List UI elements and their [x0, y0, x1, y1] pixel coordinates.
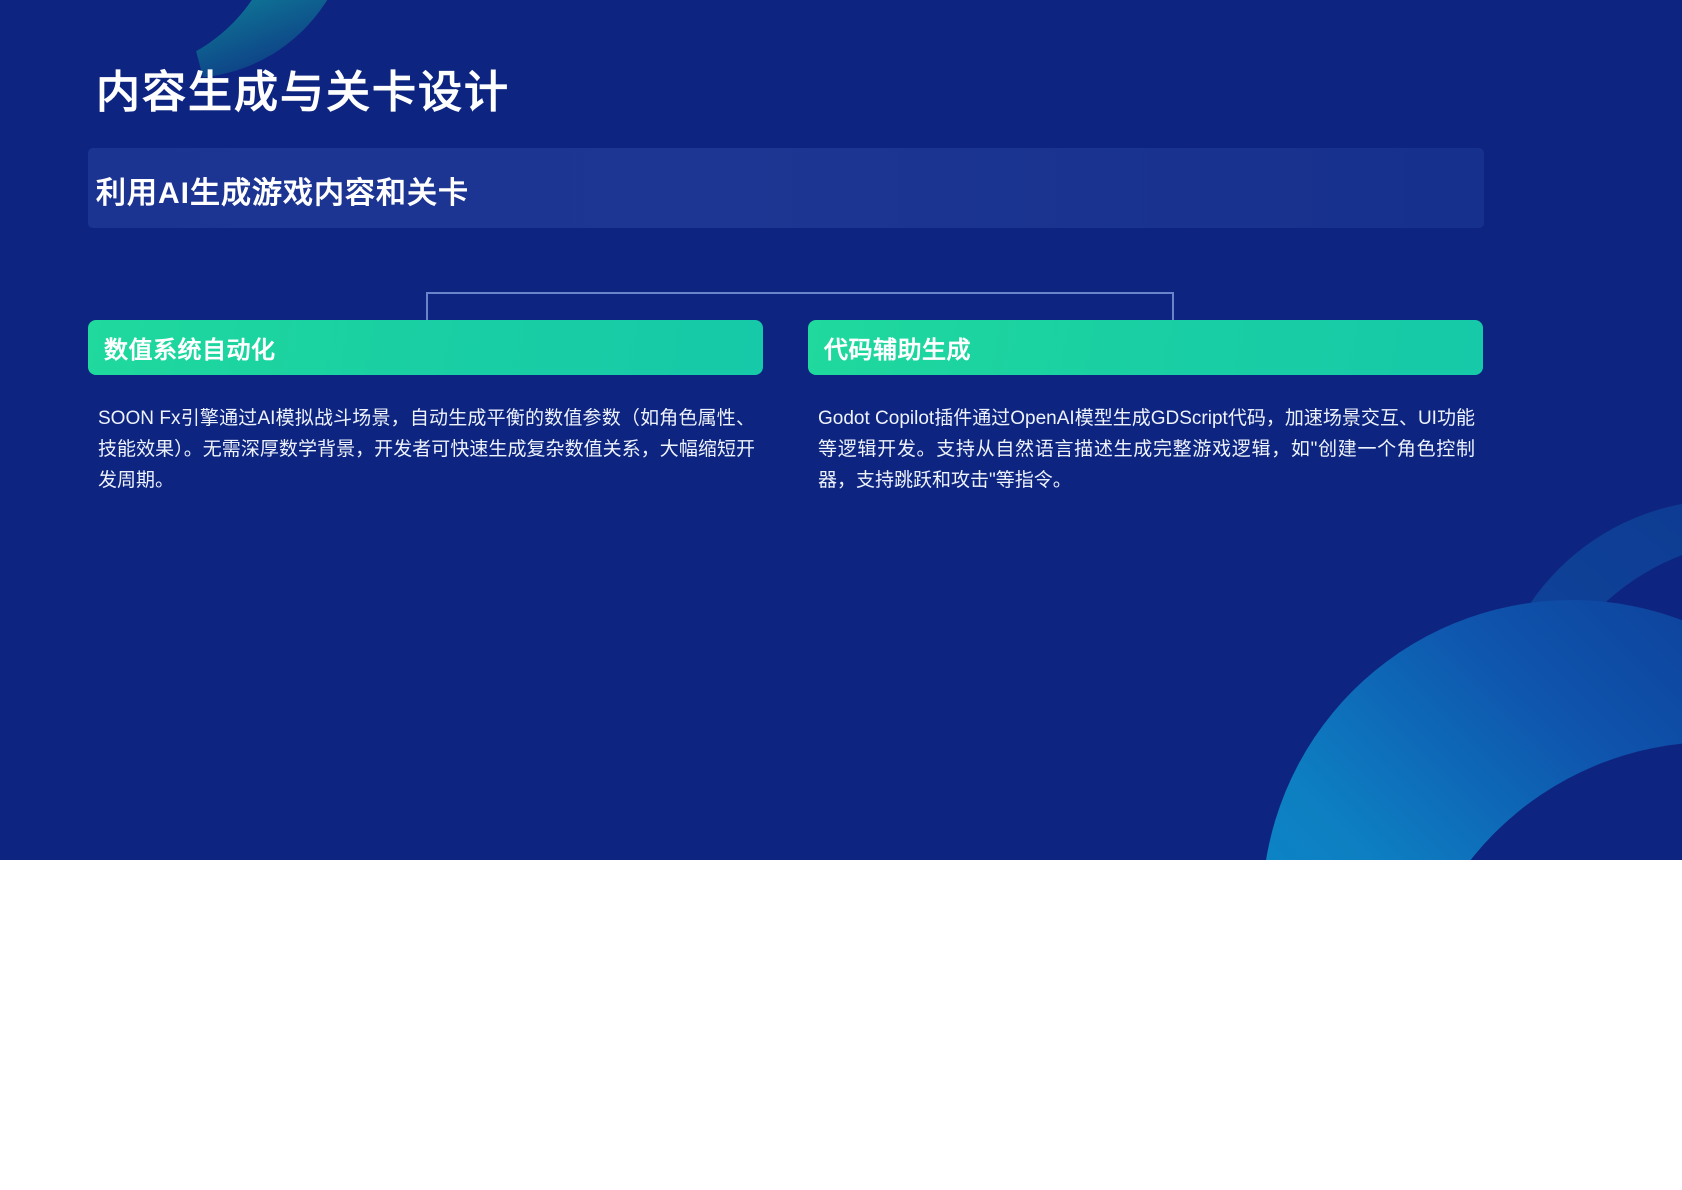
card-title: 代码辅助生成 — [824, 330, 971, 365]
decorative-arc-top-left-icon — [22, 0, 352, 78]
content-card-numeric-automation: 数值系统自动化 SOON Fx引擎通过AI模拟战斗场景，自动生成平衡的数值参数（… — [88, 320, 763, 496]
decorative-arc-bottom-right-outer-mask — [1530, 540, 1682, 860]
card-title: 数值系统自动化 — [104, 330, 276, 365]
decorative-arc-bottom-right-mask — [1404, 742, 1682, 860]
decorative-arc-top-left-mask — [0, 0, 282, 72]
slide-canvas: 内容生成与关卡设计 利用AI生成游戏内容和关卡 数值系统自动化 SOON Fx引… — [0, 0, 1682, 860]
card-body-text: SOON Fx引擎通过AI模拟战斗场景，自动生成平衡的数值参数（如角色属性、技能… — [88, 403, 763, 496]
content-card-code-assist: 代码辅助生成 Godot Copilot插件通过OpenAI模型生成GDScri… — [808, 320, 1483, 496]
subtitle-text: 利用AI生成游戏内容和关卡 — [96, 168, 469, 212]
page-title: 内容生成与关卡设计 — [96, 68, 510, 119]
decorative-arc-bottom-right-icon — [1262, 600, 1682, 860]
card-header: 数值系统自动化 — [88, 320, 763, 375]
card-body-text: Godot Copilot插件通过OpenAI模型生成GDScript代码，加速… — [808, 403, 1483, 496]
page-whitespace — [0, 860, 1682, 1190]
decorative-arc-bottom-right-outer-icon — [1490, 500, 1682, 860]
card-header: 代码辅助生成 — [808, 320, 1483, 375]
